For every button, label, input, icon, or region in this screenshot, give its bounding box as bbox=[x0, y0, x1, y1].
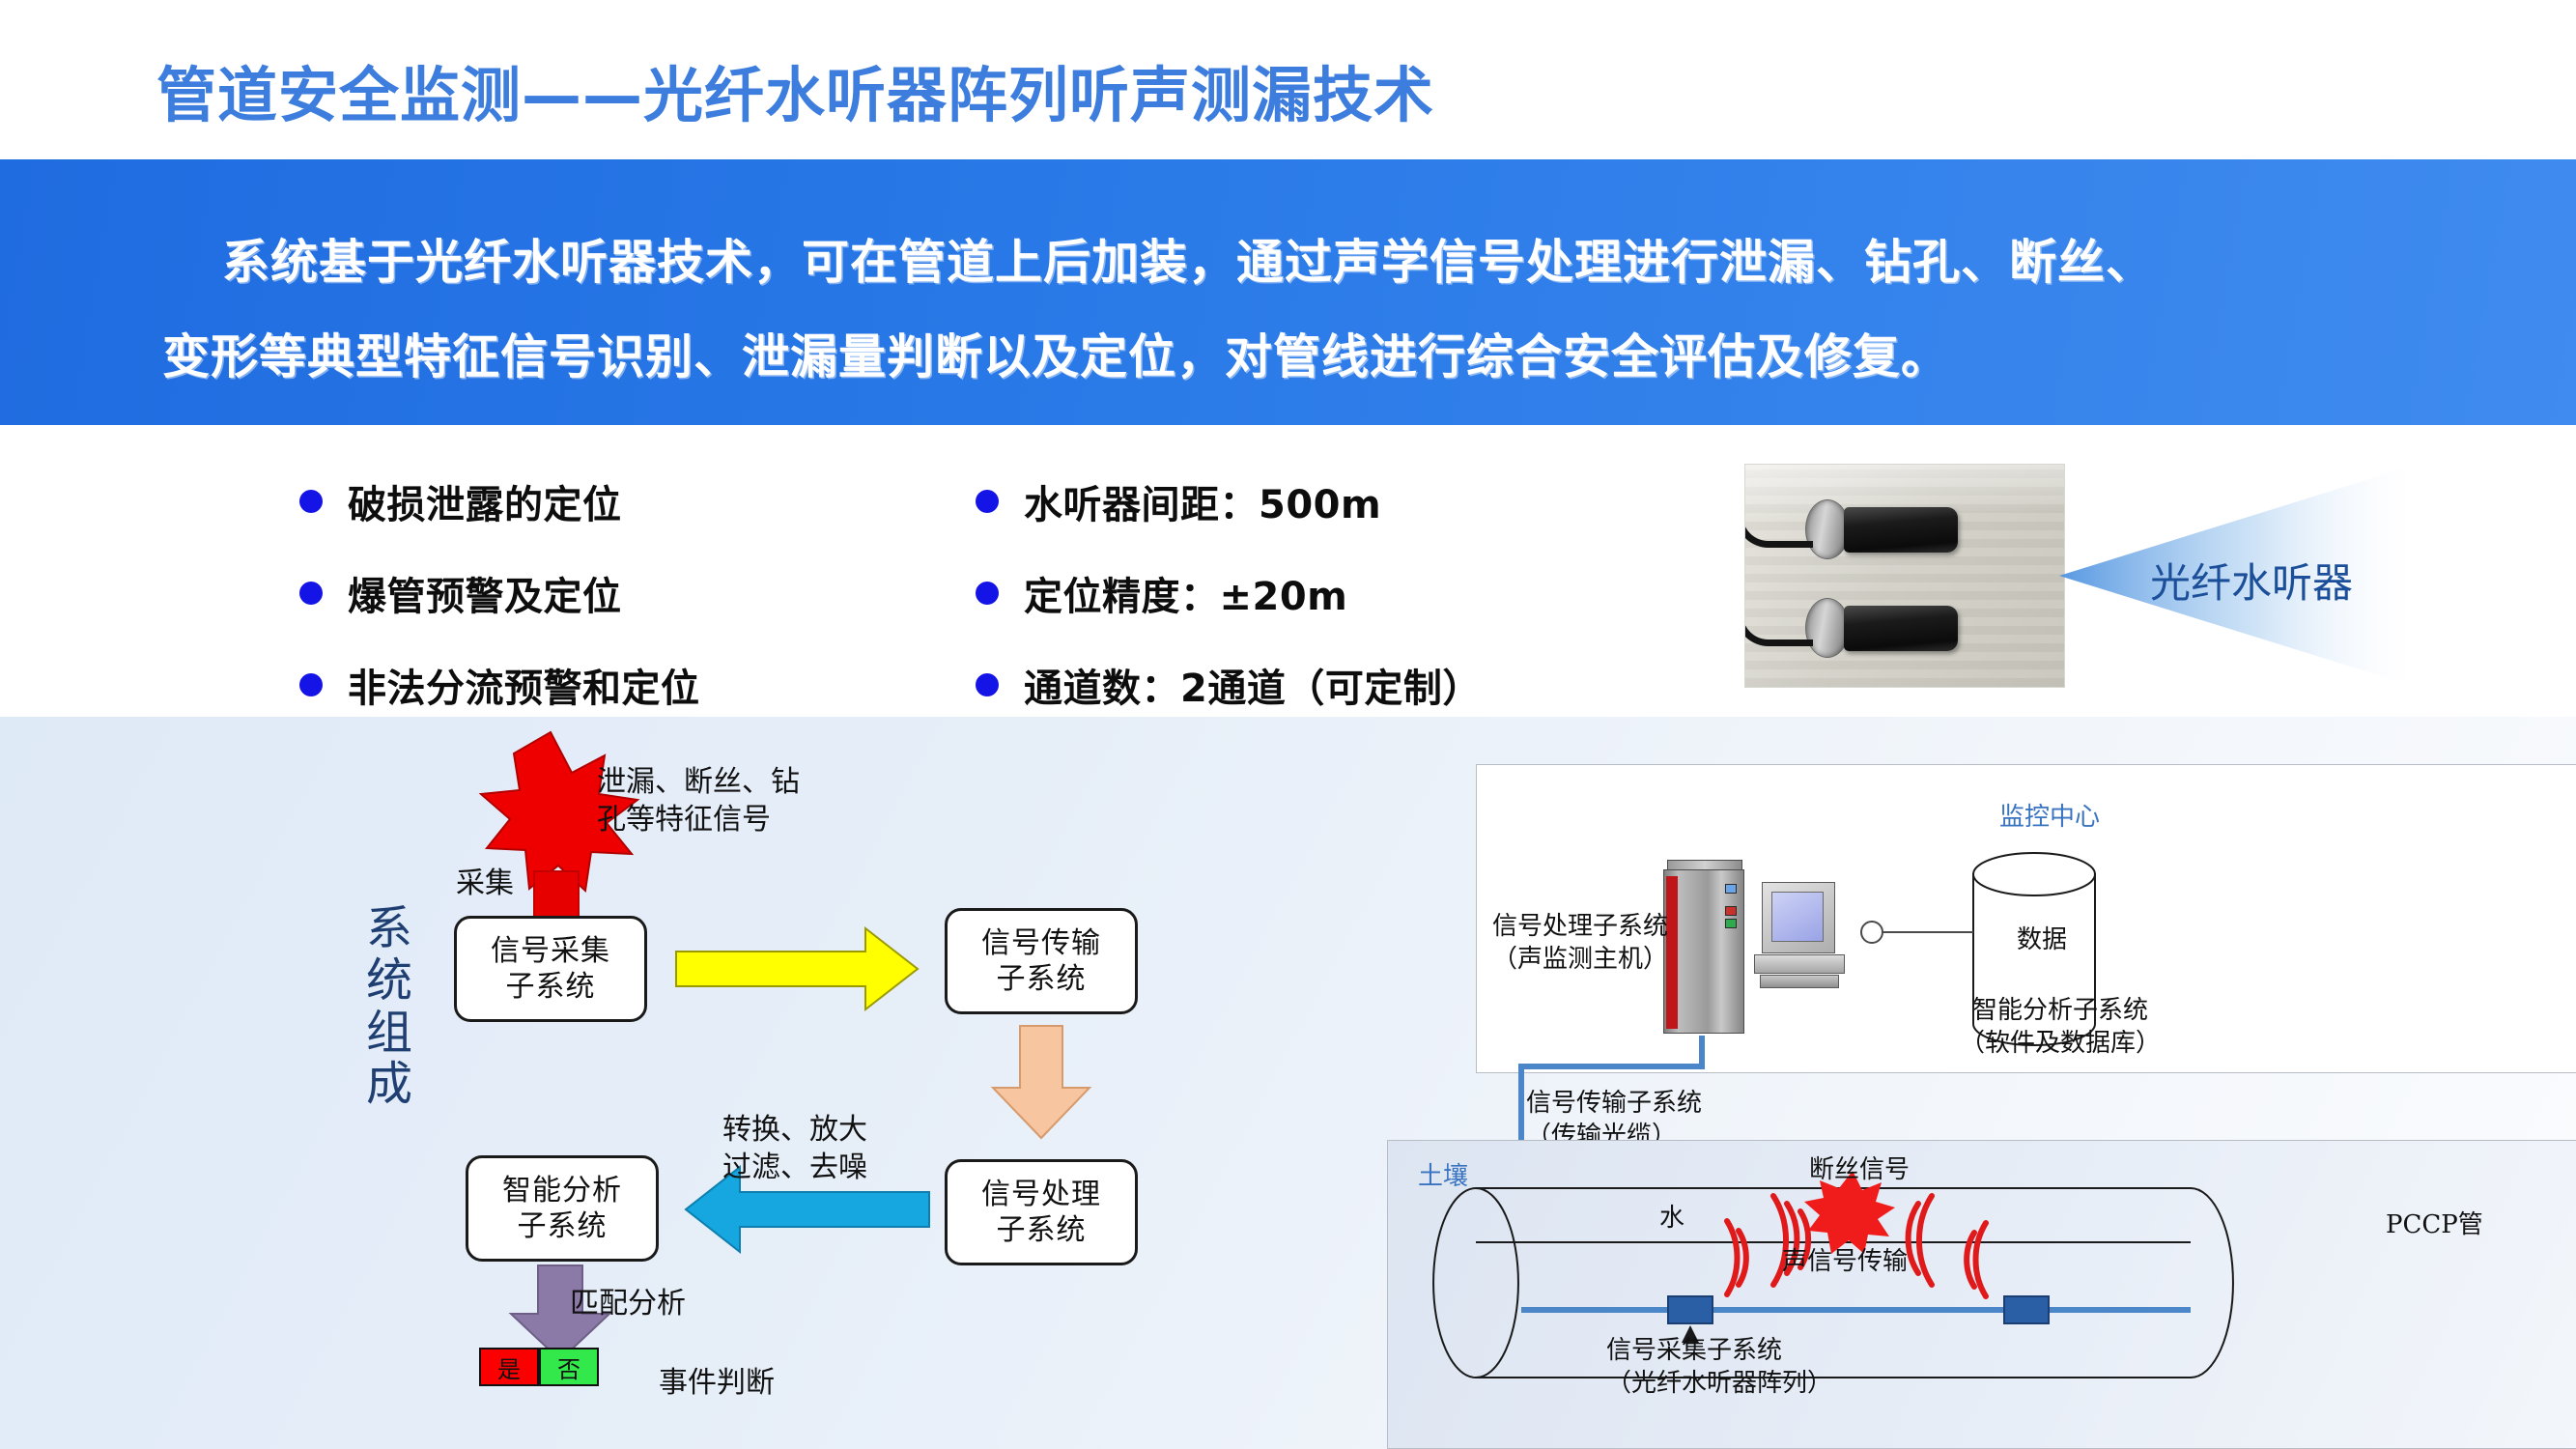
flow-box-smart-analysis[interactable]: 智能分析 子系统 bbox=[466, 1155, 659, 1262]
analysis-label-line-1: 智能分析子系统 bbox=[1960, 995, 2161, 1028]
page-title: 管道安全监测——光纤水听器阵列听声测漏技术 bbox=[156, 46, 1434, 133]
array-label-line-1: 信号采集子系统 bbox=[1606, 1335, 1832, 1368]
flow-box-line-2: 子系统 bbox=[997, 1212, 1087, 1249]
vlabel-char-1: 系 bbox=[355, 903, 423, 955]
monitor-center-title: 监控中心 bbox=[1999, 797, 2100, 833]
hydrophone-unit-upper bbox=[1805, 499, 1850, 559]
flow-box-line-1: 信号传输 bbox=[981, 925, 1101, 962]
array-label-line-2: （光纤水听器阵列） bbox=[1606, 1368, 1832, 1401]
edge-label-collect: 采集 bbox=[456, 865, 514, 902]
flow-box-line-1: 智能分析 bbox=[502, 1173, 622, 1209]
analysis-subsystem-label: 智能分析子系统 （软件及数据库） bbox=[1960, 995, 2161, 1061]
edge-label-convert: 转换、放大 过滤、去噪 bbox=[722, 1111, 867, 1186]
sound-transmission-label: 声信号传输 bbox=[1782, 1241, 1908, 1277]
callout-label: 光纤水听器 bbox=[2150, 551, 2353, 610]
vlabel-char-2: 统 bbox=[355, 955, 423, 1008]
monitor-base bbox=[1754, 954, 1845, 974]
server-label-line-2: （声监测主机） bbox=[1492, 944, 1668, 977]
server-label-line-1: 信号处理子系统 bbox=[1492, 911, 1668, 944]
fiber-label-line-1: 信号传输子系统 bbox=[1526, 1088, 1702, 1121]
vlabel-char-3: 组 bbox=[355, 1008, 423, 1060]
hydrophone-body bbox=[1844, 507, 1958, 553]
server-led-green-icon bbox=[1725, 919, 1737, 928]
list-item: 破损泄露的定位 bbox=[299, 473, 622, 529]
bullet-dot-icon bbox=[976, 582, 999, 605]
decision-yes-box[interactable]: 是 bbox=[479, 1348, 539, 1386]
slide-root: 管道安全监测——光纤水听器阵列听声测漏技术 系统基于光纤水听器技术，可在管道上后… bbox=[0, 0, 2576, 1449]
list-item: 定位精度：±20m bbox=[976, 565, 1347, 621]
bullet-dot-icon bbox=[976, 490, 999, 513]
hydrophone-body bbox=[1844, 606, 1958, 651]
title-zone: 管道安全监测——光纤水听器阵列听声测漏技术 bbox=[0, 0, 2576, 155]
analysis-label-line-2: （软件及数据库） bbox=[1960, 1028, 2161, 1061]
photo-background bbox=[1745, 465, 2064, 687]
decision-no-box[interactable]: 否 bbox=[539, 1348, 599, 1386]
list-item-label: 非法分流预警和定位 bbox=[348, 657, 700, 713]
flow-box-line-2: 子系统 bbox=[518, 1208, 608, 1245]
pipe-name-label: PCCP管 bbox=[2386, 1205, 2483, 1240]
flow-box-line-2: 子系统 bbox=[997, 961, 1087, 998]
signal-source-line-2: 孔等特征信号 bbox=[597, 801, 800, 838]
monitor-keyboard bbox=[1760, 975, 1839, 988]
list-item-label: 水听器间距：500m bbox=[1024, 473, 1381, 529]
cable-icon bbox=[1744, 515, 1813, 548]
cable-icon bbox=[1744, 613, 1813, 646]
description-line-2: 变形等典型特征信号识别、泄漏量判断以及定位，对管线进行综合安全评估及修复。 bbox=[162, 319, 1949, 387]
edge-convert-line-2: 过滤、去噪 bbox=[722, 1149, 867, 1186]
server-led-blue-icon bbox=[1725, 884, 1737, 894]
list-item: 水听器间距：500m bbox=[976, 473, 1381, 529]
list-item-label: 爆管预警及定位 bbox=[348, 565, 622, 621]
soil-box bbox=[1387, 1140, 2576, 1449]
server-rack-icon bbox=[1663, 869, 1744, 1034]
list-item: 通道数：2通道（可定制） bbox=[976, 657, 1482, 713]
edge-convert-line-1: 转换、放大 bbox=[722, 1111, 867, 1149]
system-composition-label: 系 统 组 成 bbox=[355, 903, 423, 1111]
vlabel-char-4: 成 bbox=[355, 1059, 423, 1111]
hydrophone-unit-lower bbox=[1805, 598, 1850, 658]
flow-box-signal-collect[interactable]: 信号采集 子系统 bbox=[454, 916, 647, 1022]
flow-box-line-1: 信号采集 bbox=[491, 933, 610, 970]
hydrophone-photo bbox=[1744, 464, 2065, 688]
flow-box-signal-transmit[interactable]: 信号传输 子系统 bbox=[945, 908, 1138, 1014]
list-item-label: 定位精度：±20m bbox=[1024, 565, 1347, 621]
list-item-label: 通道数：2通道（可定制） bbox=[1024, 657, 1482, 713]
signal-source-text: 泄漏、断丝、钻 孔等特征信号 bbox=[597, 763, 800, 838]
edge-label-match: 匹配分析 bbox=[570, 1285, 686, 1322]
flow-box-signal-process[interactable]: 信号处理 子系统 bbox=[945, 1159, 1138, 1265]
server-led-red-icon bbox=[1725, 906, 1737, 916]
bullet-dot-icon bbox=[299, 673, 323, 696]
bullet-dot-icon bbox=[976, 673, 999, 696]
soil-label: 土壤 bbox=[1418, 1156, 1468, 1192]
monitor-screen bbox=[1771, 892, 1824, 942]
bullet-dot-icon bbox=[299, 582, 323, 605]
server-label: 信号处理子系统 （声监测主机） bbox=[1492, 911, 1668, 977]
decision-caption: 事件判断 bbox=[659, 1364, 775, 1402]
water-label: 水 bbox=[1659, 1198, 1684, 1234]
description-line-1: 系统基于光纤水听器技术，可在管道上后加装，通过声学信号处理进行泄漏、钻孔、断丝、 bbox=[222, 224, 2154, 293]
list-item: 非法分流预警和定位 bbox=[299, 657, 700, 713]
database-label: 数据 bbox=[2017, 920, 2067, 955]
list-item-label: 破损泄露的定位 bbox=[348, 473, 622, 529]
flow-box-line-1: 信号处理 bbox=[981, 1177, 1101, 1213]
break-signal-label: 断丝信号 bbox=[1809, 1150, 1910, 1185]
array-subsystem-label: 信号采集子系统 （光纤水听器阵列） bbox=[1606, 1335, 1832, 1401]
bullet-dot-icon bbox=[299, 490, 323, 513]
list-item: 爆管预警及定位 bbox=[299, 565, 622, 621]
flow-box-line-2: 子系统 bbox=[506, 969, 596, 1006]
signal-source-line-1: 泄漏、断丝、钻 bbox=[597, 763, 800, 801]
